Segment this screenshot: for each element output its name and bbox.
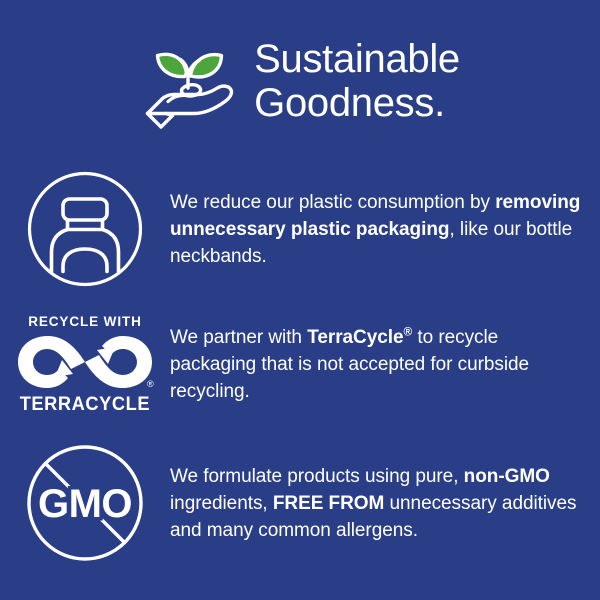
page-title-line-2: Goodness. bbox=[254, 81, 460, 125]
terracycle-logo: RECYCLE WITH ® TERRACYCLE bbox=[10, 314, 160, 415]
terracycle-bottom-label: TERRACYCLE bbox=[20, 394, 150, 415]
page-title: Sustainable Goodness. bbox=[254, 37, 460, 125]
text-fragment: We reduce our plastic consumption by bbox=[170, 192, 495, 213]
text-fragment-bold: TerraCycle bbox=[307, 327, 403, 348]
sustainable-goodness-poster: Sustainable Goodness. We reduce our plas… bbox=[0, 0, 600, 600]
poster-header: Sustainable Goodness. bbox=[0, 26, 600, 136]
feature-text-slot: We formulate products using pure, non-GM… bbox=[170, 444, 600, 563]
terracycle-top-label: RECYCLE WITH bbox=[28, 314, 142, 329]
feature-icon-slot: RECYCLE WITH ® TERRACYCLE bbox=[0, 314, 170, 415]
no-gmo-icon: GMO bbox=[24, 442, 146, 564]
text-fragment: We formulate products using pure, bbox=[170, 466, 464, 487]
feature-row-non-gmo: GMO We formulate products using pure, no… bbox=[0, 440, 600, 566]
hand-holding-seedling-icon bbox=[140, 35, 240, 131]
text-fragment-bold: non-GMO bbox=[464, 466, 550, 487]
text-fragment-bold: FREE FROM bbox=[273, 493, 384, 514]
no-gmo-label: GMO bbox=[38, 482, 132, 526]
feature-text-slot: We reduce our plastic consumption by rem… bbox=[170, 170, 600, 289]
feature-text-non-gmo: We formulate products using pure, non-GM… bbox=[170, 463, 582, 544]
page-title-line-1: Sustainable bbox=[254, 37, 460, 81]
feature-text-slot: We partner with TerraCycle® to recycle p… bbox=[170, 305, 600, 424]
feature-icon-slot bbox=[0, 170, 170, 288]
feature-icon-slot: GMO bbox=[0, 442, 170, 564]
text-fragment: ingredients, bbox=[170, 493, 273, 514]
registered-mark: ® bbox=[404, 325, 413, 338]
bottle-in-circle-icon bbox=[26, 170, 144, 288]
feature-row-plastic: We reduce our plastic consumption by rem… bbox=[0, 168, 600, 290]
infinity-arrows-icon: ® bbox=[15, 333, 155, 391]
feature-text-plastic: We reduce our plastic consumption by rem… bbox=[170, 189, 582, 270]
text-fragment: We partner with bbox=[170, 327, 307, 348]
feature-text-terracycle: We partner with TerraCycle® to recycle p… bbox=[170, 324, 582, 405]
registered-mark: ® bbox=[147, 379, 154, 389]
feature-row-terracycle: RECYCLE WITH ® TERRACYCLE We part bbox=[0, 306, 600, 422]
